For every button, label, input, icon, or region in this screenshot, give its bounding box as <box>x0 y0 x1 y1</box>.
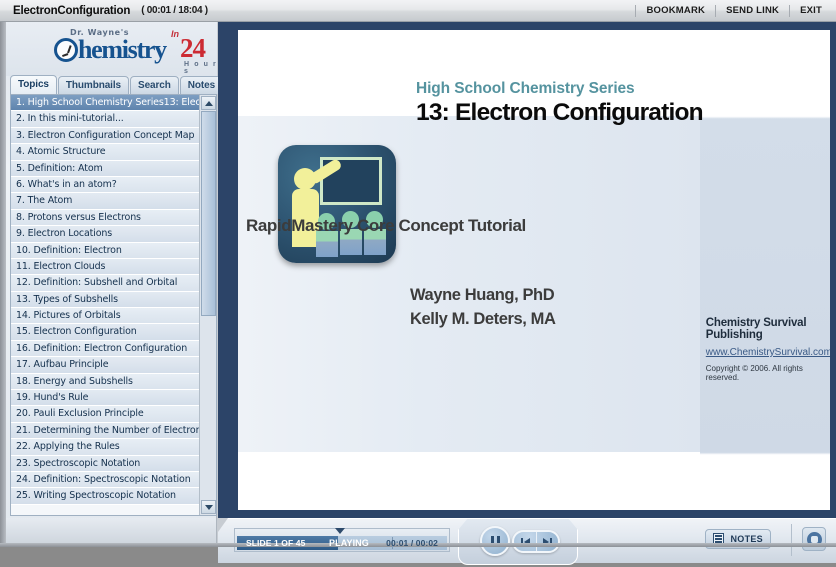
topic-list-item[interactable]: 23. Spectroscopic Notation <box>11 456 199 472</box>
application-window: ElectronConfiguration ( 00:01 / 18:04 ) … <box>0 0 836 547</box>
topic-list-item[interactable]: 15. Electron Configuration <box>11 324 199 340</box>
left-panel: Dr. Wayne's hemistry In 24 H o u r s Top… <box>6 22 217 518</box>
control-divider <box>791 524 792 556</box>
copyright-text: Copyright © 2006. All rights reserved. <box>706 364 826 382</box>
publisher-block: Chemistry Survival Publishing www.Chemis… <box>696 317 826 382</box>
previous-icon <box>521 538 530 546</box>
publisher-name: Chemistry Survival Publishing <box>706 317 826 341</box>
slide-canvas: High School Chemistry Series 13: Electro… <box>238 30 830 510</box>
topic-list-scrollbar[interactable] <box>199 95 216 515</box>
topic-list-item[interactable]: 3. Electron Configuration Concept Map <box>11 128 199 144</box>
chemistry-in-24-hours-logo: Dr. Wayne's hemistry In 24 H o u r s <box>46 27 217 73</box>
progress-caret-icon <box>335 528 345 534</box>
chevron-down-icon <box>205 505 213 510</box>
slide-progress-bar[interactable]: SLIDE 1 OF 45 PLAYING 00:01 / 00:02 <box>234 528 450 552</box>
clock-icon <box>54 38 78 62</box>
topic-list-item[interactable]: 21. Determining the Number of Electrons <box>11 423 199 439</box>
topic-list-item[interactable]: 24. Definition: Spectroscopic Notation <box>11 472 199 488</box>
tab-search[interactable]: Search <box>130 76 179 94</box>
fullscreen-icon <box>807 532 822 547</box>
topic-list-item[interactable]: 6. What's in an atom? <box>11 177 199 193</box>
tab-thumbnails[interactable]: Thumbnails <box>58 76 129 94</box>
pause-button[interactable] <box>480 526 510 556</box>
chevron-up-icon <box>205 101 213 106</box>
pause-icon <box>491 536 500 547</box>
notes-button[interactable]: NOTES <box>705 529 771 549</box>
bookmark-button[interactable]: BOOKMARK <box>635 5 715 17</box>
topic-list-item[interactable]: 4. Atomic Structure <box>11 144 199 160</box>
scroll-up-button[interactable] <box>201 96 216 110</box>
topic-list-item[interactable]: 22. Applying the Rules <box>11 439 199 455</box>
topic-list-item[interactable]: 5. Definition: Atom <box>11 161 199 177</box>
topic-list-item[interactable]: 20. Pauli Exclusion Principle <box>11 406 199 422</box>
slide-authors: Wayne Huang, PhD Kelly M. Deters, MA <box>410 283 556 331</box>
panel-tabs: TopicsThumbnailsSearchNotes <box>10 75 217 94</box>
title-bar: ElectronConfiguration ( 00:01 / 18:04 ) … <box>0 0 836 22</box>
topic-list-item[interactable]: 17. Aufbau Principle <box>11 357 199 373</box>
playback-control-bar: SLIDE 1 OF 45 PLAYING 00:01 / 00:02 <box>218 518 836 567</box>
title-bar-actions: BOOKMARK SEND LINK EXIT <box>635 5 836 17</box>
logo-number-text: 24 <box>180 33 205 64</box>
slide-title: 13: Electron Configuration <box>416 99 703 127</box>
next-slide-button[interactable] <box>536 532 558 551</box>
topic-list-item[interactable]: 13. Types of Subshells <box>11 292 199 308</box>
topic-list-item[interactable]: 2. In this mini-tutorial... <box>11 111 199 127</box>
topic-list-container: 1. High School Chemistry Series13: Elect… <box>10 94 217 516</box>
next-icon <box>543 538 552 546</box>
exit-button[interactable]: EXIT <box>789 5 828 17</box>
window-elapsed-time: ( 00:01 / 18:04 ) <box>141 5 208 16</box>
author-line-1: Wayne Huang, PhD <box>410 283 556 307</box>
topic-list-item[interactable]: 19. Hund's Rule <box>11 390 199 406</box>
topic-list-item[interactable]: 8. Protons versus Electrons <box>11 210 199 226</box>
scroll-down-button[interactable] <box>201 500 216 514</box>
main-frame: Dr. Wayne's hemistry In 24 H o u r s Top… <box>0 22 836 547</box>
notes-icon <box>713 533 724 546</box>
send-link-button[interactable]: SEND LINK <box>715 5 789 17</box>
topic-list-item[interactable]: 12. Definition: Subshell and Orbital <box>11 275 199 291</box>
progress-row: SLIDE 1 OF 45 PLAYING 00:01 / 00:02 <box>237 536 447 550</box>
topic-list-item[interactable]: 11. Electron Clouds <box>11 259 199 275</box>
scrollbar-thumb[interactable] <box>201 111 216 316</box>
tab-topics[interactable]: Topics <box>10 75 57 94</box>
logo-area: Dr. Wayne's hemistry In 24 H o u r s <box>6 22 217 76</box>
window-title: ElectronConfiguration <box>13 5 130 17</box>
teacher-classroom-icon <box>278 145 396 263</box>
topic-list-item[interactable]: 14. Pictures of Orbitals <box>11 308 199 324</box>
topic-list-item[interactable]: 9. Electron Locations <box>11 226 199 242</box>
logo-in-text: In <box>171 29 179 39</box>
slide-content: High School Chemistry Series 13: Electro… <box>238 30 830 510</box>
topic-list-item[interactable]: 7. The Atom <box>11 193 199 209</box>
logo-hours-text: H o u r s <box>184 61 217 75</box>
topic-list-item[interactable]: 10. Definition: Electron <box>11 243 199 259</box>
prev-next-control[interactable] <box>512 530 560 553</box>
topic-list-item[interactable]: 16. Definition: Electron Configuration <box>11 341 199 357</box>
publisher-url-link[interactable]: www.ChemistrySurvival.com/ <box>706 347 826 358</box>
topic-list[interactable]: 1. High School Chemistry Series13: Elect… <box>11 95 199 515</box>
left-panel-footer <box>6 518 217 543</box>
fullscreen-button[interactable] <box>802 527 826 551</box>
slide-series-label: High School Chemistry Series <box>416 80 635 98</box>
topic-list-item[interactable]: 18. Energy and Subshells <box>11 374 199 390</box>
previous-slide-button[interactable] <box>514 532 536 551</box>
tab-notes[interactable]: Notes <box>180 76 223 94</box>
slide-subtitle: RapidMastery Core Concept Tutorial <box>246 216 526 236</box>
author-line-2: Kelly M. Deters, MA <box>410 307 556 331</box>
slide-frame: High School Chemistry Series 13: Electro… <box>218 22 836 518</box>
logo-word-text: hemistry <box>78 35 166 65</box>
topic-list-item[interactable]: 25. Writing Spectroscopic Notation <box>11 488 199 504</box>
notes-button-label: NOTES <box>730 534 763 544</box>
topic-list-item[interactable]: 1. High School Chemistry Series13: Elect… <box>11 95 199 111</box>
